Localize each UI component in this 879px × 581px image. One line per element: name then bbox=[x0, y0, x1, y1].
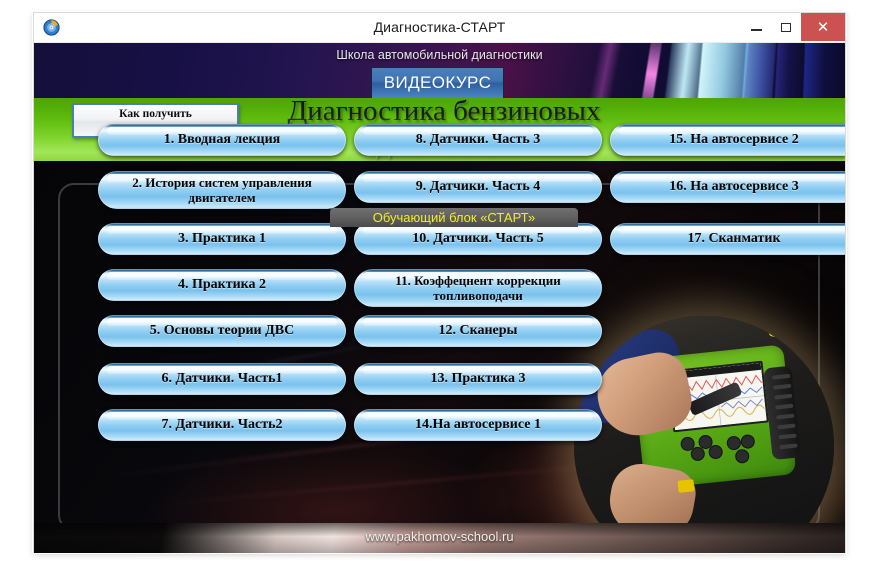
close-button[interactable]: ✕ bbox=[801, 13, 845, 41]
block-title-label: Обучающий блок «СТАРТ» bbox=[373, 210, 536, 225]
close-icon: ✕ bbox=[817, 20, 830, 35]
minimize-icon bbox=[751, 29, 762, 31]
lesson-button-4[interactable]: 4. Практика 2 bbox=[98, 269, 346, 301]
lesson-button-9[interactable]: 9. Датчики. Часть 4 bbox=[354, 171, 602, 203]
lesson-button-5[interactable]: 5. Основы теории ДВС bbox=[98, 315, 346, 347]
maximize-button[interactable] bbox=[771, 13, 801, 41]
lesson-buttons: 1. Вводная лекция2. История систем управ… bbox=[34, 43, 845, 553]
lesson-button-label: 13. Практика 3 bbox=[422, 371, 533, 387]
lesson-button-1[interactable]: 1. Вводная лекция bbox=[98, 124, 346, 156]
lesson-button-17[interactable]: 17. Сканматик bbox=[610, 223, 845, 255]
lesson-button-label: 17. Сканматик bbox=[679, 231, 788, 247]
lesson-button-label: 1. Вводная лекция bbox=[156, 132, 288, 148]
lesson-button-2[interactable]: 2. История систем управления двигателем bbox=[98, 171, 346, 209]
minimize-button[interactable] bbox=[741, 13, 771, 41]
lesson-button-15[interactable]: 15. На автосервисе 2 bbox=[610, 124, 845, 156]
lesson-button-3[interactable]: 3. Практика 1 bbox=[98, 223, 346, 255]
lesson-button-12[interactable]: 12. Сканеры bbox=[354, 315, 602, 347]
lesson-button-8[interactable]: 8. Датчики. Часть 3 bbox=[354, 124, 602, 156]
lesson-button-label: 7. Датчики. Часть2 bbox=[153, 417, 290, 433]
lesson-button-7[interactable]: 7. Датчики. Часть2 bbox=[98, 409, 346, 441]
footer-bar: www.pakhomov-school.ru bbox=[34, 523, 845, 553]
maximize-icon bbox=[781, 23, 791, 32]
title-bar: Диагностика-СТАРТ ✕ bbox=[34, 13, 845, 43]
lesson-button-label: 3. Практика 1 bbox=[170, 231, 274, 247]
lesson-button-10[interactable]: 10. Датчики. Часть 5 bbox=[354, 223, 602, 255]
lesson-button-6[interactable]: 6. Датчики. Часть1 bbox=[98, 363, 346, 395]
lesson-button-label: 10. Датчики. Часть 5 bbox=[404, 231, 552, 247]
lesson-button-label: 6. Датчики. Часть1 bbox=[153, 371, 290, 387]
block-title: Обучающий блок «СТАРТ» bbox=[330, 208, 578, 227]
lesson-button-label: 16. На автосервисе 3 bbox=[661, 179, 806, 195]
lesson-button-label: 11. Коэффецнент коррекции топливоподачи bbox=[354, 273, 602, 303]
lesson-button-label: 5. Основы теории ДВС bbox=[142, 323, 302, 339]
lesson-button-14[interactable]: 14.На автосервисе 1 bbox=[354, 409, 602, 441]
lesson-button-16[interactable]: 16. На автосервисе 3 bbox=[610, 171, 845, 203]
lesson-button-label: 14.На автосервисе 1 bbox=[407, 417, 549, 433]
footer-url: www.pakhomov-school.ru bbox=[34, 529, 845, 544]
lesson-button-label: 9. Датчики. Часть 4 bbox=[408, 179, 549, 195]
lesson-button-11[interactable]: 11. Коэффецнент коррекции топливоподачи bbox=[354, 269, 602, 307]
lesson-button-label: 12. Сканеры bbox=[431, 323, 526, 339]
lesson-button-label: 2. История систем управления двигателем bbox=[98, 175, 346, 205]
window-title: Диагностика-СТАРТ bbox=[34, 19, 845, 35]
lesson-button-label: 4. Практика 2 bbox=[170, 277, 274, 293]
lesson-button-label: 8. Датчики. Часть 3 bbox=[408, 132, 549, 148]
application-window: Диагностика-СТАРТ ✕ Школа автомобильной … bbox=[33, 12, 846, 553]
app-content: Школа автомобильной диагностики ВИДЕОКУР… bbox=[34, 43, 845, 553]
lesson-button-label: 15. На автосервисе 2 bbox=[661, 132, 806, 148]
lesson-button-13[interactable]: 13. Практика 3 bbox=[354, 363, 602, 395]
